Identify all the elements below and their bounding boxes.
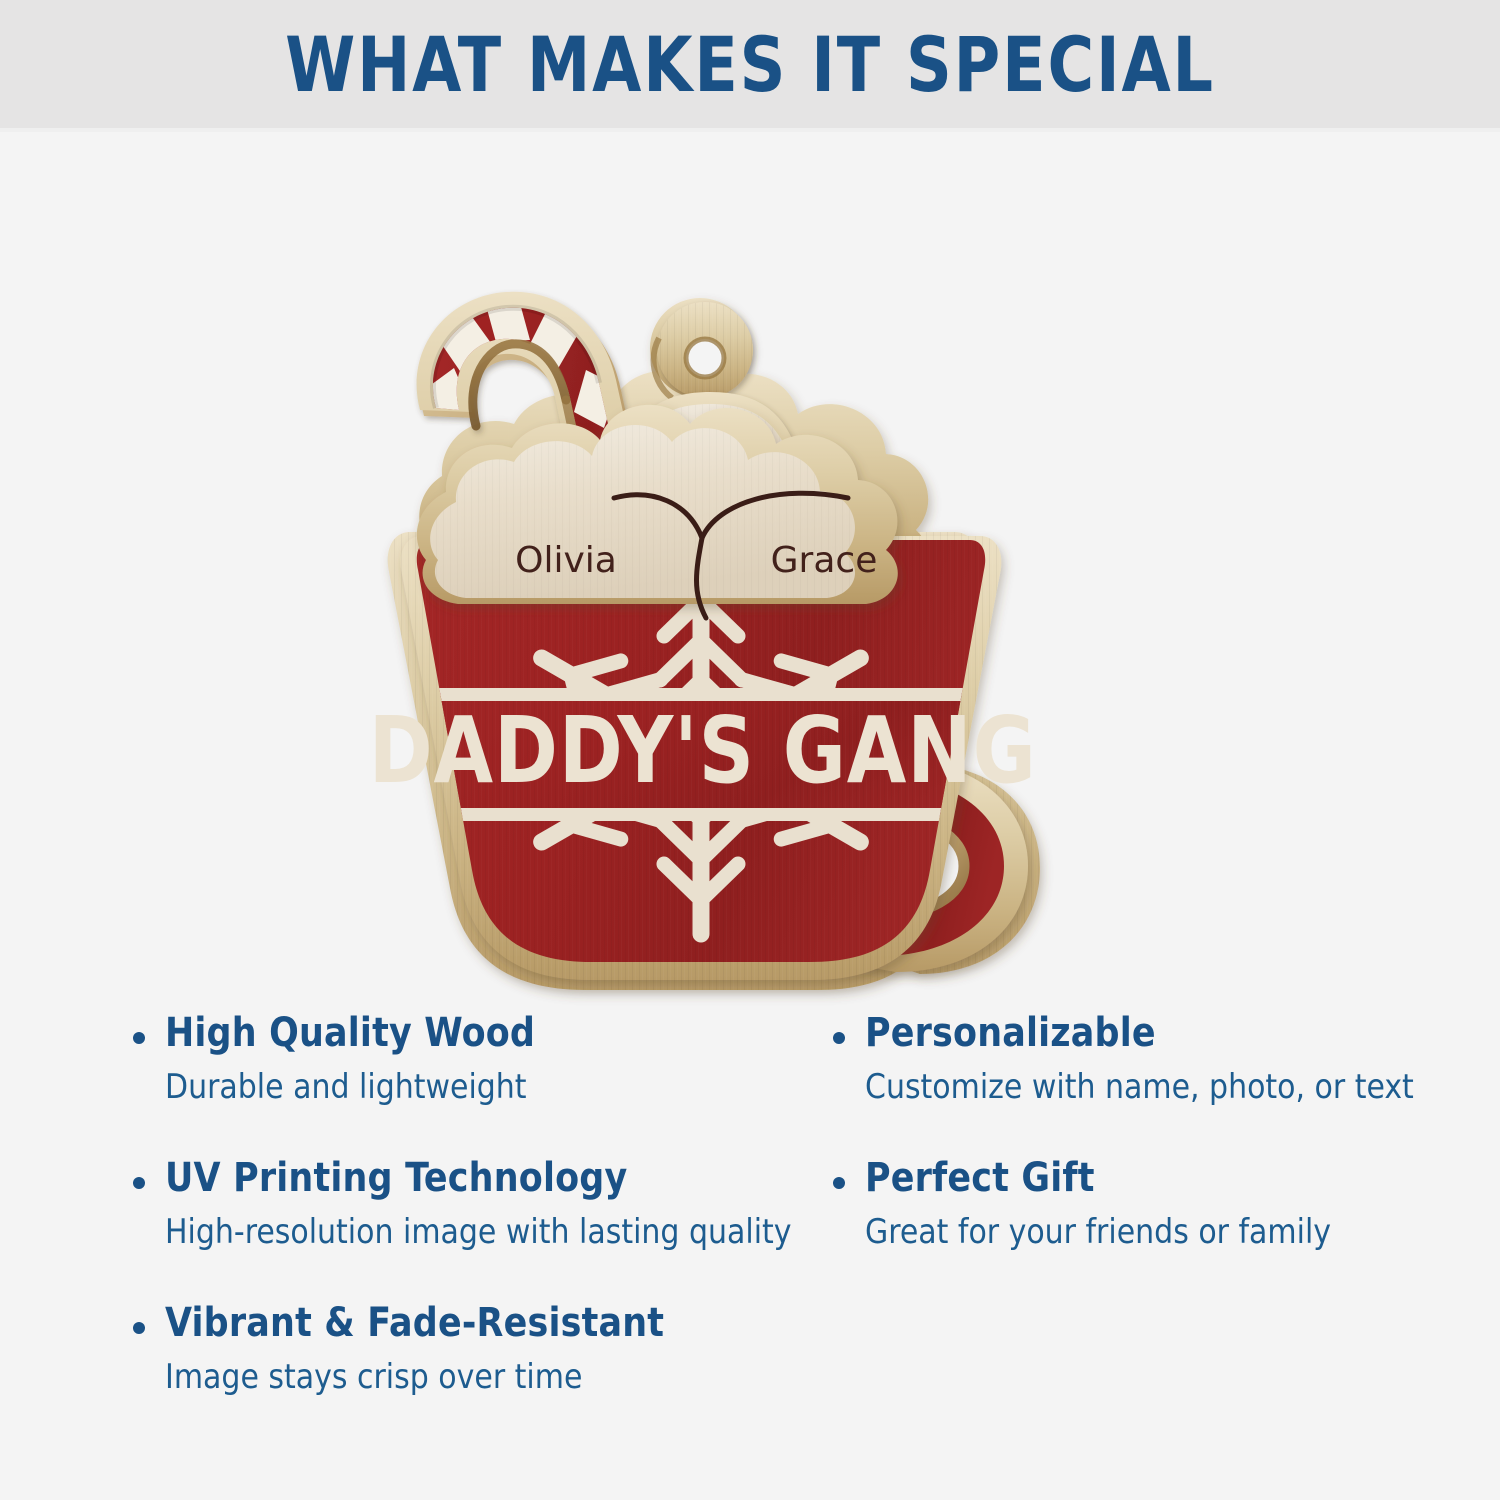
marshmallow-name-olivia: Olivia (515, 540, 617, 581)
feature-column-left: High Quality Wood Durable and lightweigh… (120, 1010, 820, 1445)
feature-column-right: Personalizable Customize with name, phot… (820, 1010, 1460, 1300)
page-root: WHAT MAKES IT SPECIAL (0, 0, 1500, 1500)
feature-list: High Quality Wood Durable and lightweigh… (0, 1010, 1500, 1440)
mug-name-text: DADDY'S GANG (369, 697, 1037, 804)
feature-item-high-quality-wood: High Quality Wood Durable and lightweigh… (120, 1010, 820, 1111)
feature-item-personalizable: Personalizable Customize with name, phot… (820, 1010, 1460, 1111)
feature-description: Image stays crisp over time (165, 1355, 807, 1401)
feature-item-perfect-gift: Perfect Gift Great for your friends or f… (820, 1155, 1460, 1256)
feature-item-vibrant-fade-resistant: Vibrant & Fade-Resistant Image stays cri… (120, 1300, 820, 1401)
feature-item-uv-printing-technology: UV Printing Technology High-resolution i… (120, 1155, 820, 1256)
feature-description: Great for your friends or family (865, 1210, 1448, 1256)
ornament-svg: DADDY'S GANG James (380, 240, 1080, 970)
bullet-dot-icon (133, 1177, 145, 1189)
bullet-dot-icon (133, 1322, 145, 1334)
page-title: WHAT MAKES IT SPECIAL (53, 0, 1448, 128)
bullet-dot-icon (133, 1032, 145, 1044)
feature-description: Durable and lightweight (165, 1065, 807, 1111)
feature-title: Personalizable (865, 1010, 1442, 1057)
feature-title: Vibrant & Fade-Resistant (165, 1300, 800, 1347)
feature-title: High Quality Wood (165, 1010, 800, 1057)
feature-title: UV Printing Technology (165, 1155, 800, 1202)
feature-description: Customize with name, photo, or text (865, 1065, 1448, 1111)
feature-title: Perfect Gift (865, 1155, 1442, 1202)
product-ornament-image: DADDY'S GANG James (380, 240, 1080, 970)
bullet-dot-icon (833, 1177, 845, 1189)
marshmallow-name-grace: Grace (771, 540, 878, 581)
feature-description: High-resolution image with lasting quali… (165, 1210, 807, 1256)
bullet-dot-icon (833, 1032, 845, 1044)
